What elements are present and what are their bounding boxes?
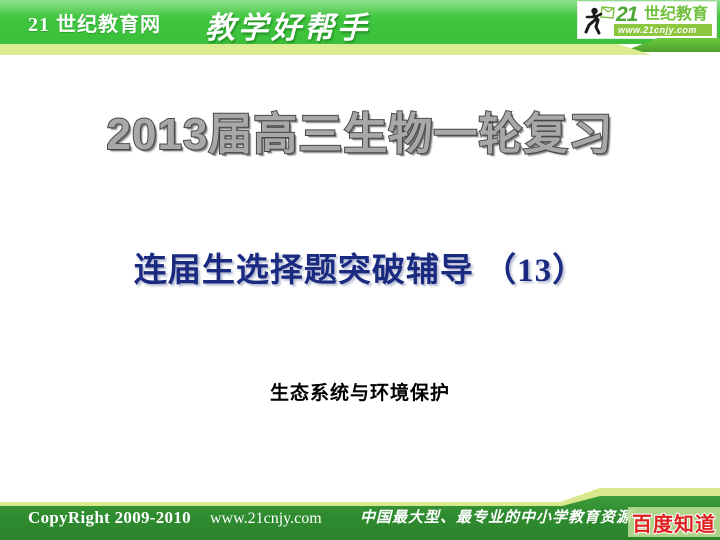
footer-copyright: CopyRight 2009-2010 [28,508,191,528]
running-person-icon [582,5,616,35]
footer-tagline: 中国最大型、最专业的中小学教育资源 [360,506,632,527]
footer-url[interactable]: www.21cnjy.com [210,510,322,528]
slide-canvas: 21 世纪教育网 教学好帮手 21 世纪教育 www.21cnjy.com 20… [0,0,720,540]
brand-name: 21 世纪教育网 [28,8,161,37]
page-footer: CopyRight 2009-2010 www.21cnjy.com 中国最大型… [0,480,720,540]
page-title: 2013届高三生物一轮复习 [0,98,720,162]
watermark-label: 百度知道 [632,508,716,537]
section-topic: 生态系统与环境保护 [0,378,720,405]
brand-slogan: 教学好帮手 [205,3,370,44]
watermark-badge: 百度知道 [628,507,720,537]
logo-number: 21 [616,4,637,25]
header-pale-band [0,44,720,55]
logo-url: www.21cnjy.com [618,25,697,35]
site-logo[interactable]: 21 世纪教育 www.21cnjy.com [577,1,717,39]
page-subtitle: 连届生选择题突破辅导 （13） [0,243,720,291]
logo-name: 世纪教育 [644,4,708,25]
